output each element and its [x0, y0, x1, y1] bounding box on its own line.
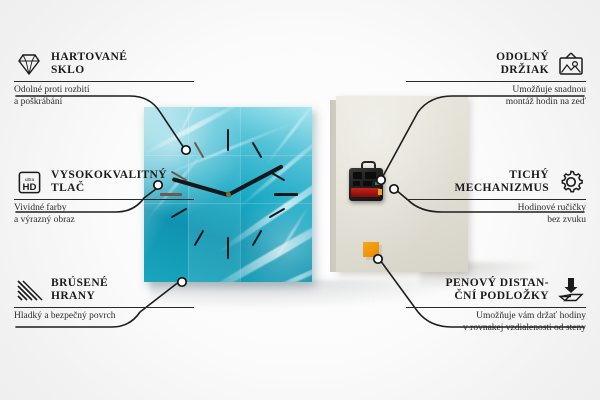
feature-description: Umožňuje snadnou montáž hodin na zeď [406, 85, 586, 108]
clock-center-pin [226, 192, 231, 197]
feature-silent-mechanism: TICHÝ MECHANIZMUS Hodinové ručičky bez z… [406, 168, 586, 226]
feature-durable-holder: ODOLNÝ DRŽIAK Umožňuje snadnou montáž ho… [406, 50, 586, 108]
feature-description: Odolné proti rozbití a poškrábání [14, 85, 194, 108]
diagonal-lines-icon [14, 276, 44, 304]
battery [351, 188, 380, 197]
feature-header: BRÚSENÉ HRANY [14, 276, 194, 304]
svg-text:HD: HD [22, 182, 36, 193]
feature-header: PENOVÝ DISTAN- ČNÍ PODLOŽKY [406, 276, 586, 304]
clock-tick-3 [274, 193, 298, 196]
feature-divider [406, 81, 586, 82]
feature-title: BRÚSENÉ HRANY [51, 277, 108, 303]
feature-polished-edges: BRÚSENÉ HRANY Hladký a bezpečný povrch [14, 276, 194, 323]
clock-mechanism [349, 168, 383, 201]
glass-reflection-line [240, 107, 241, 282]
feature-title: TICHÝ MECHANIZMUS [455, 169, 550, 195]
mechanism-detail [353, 172, 362, 179]
feature-foam-spacers: PENOVÝ DISTAN- ČNÍ PODLOŽKY Umožňuje vám… [406, 276, 586, 334]
feature-high-quality-print: ultra HD VYSOKOKVALITNÝ TLAČ Vividné far… [14, 168, 194, 226]
feature-title: ODOLNÝ DRŽIAK [496, 51, 549, 77]
feature-title: PENOVÝ DISTAN- ČNÍ PODLOŽKY [446, 277, 549, 303]
foam-spacer-pad [363, 242, 379, 257]
ultra-hd-icon: ultra HD [14, 168, 44, 196]
feature-description: Hladký a bezpečný povrch [14, 311, 194, 323]
mechanism-detail [365, 172, 376, 179]
diamond-icon [14, 50, 44, 78]
gear-icon [556, 168, 586, 196]
product-infographic: HARTOVANÉ SKLO Odolné proti rozbití a po… [0, 0, 600, 400]
feature-divider [14, 81, 194, 82]
feature-header: HARTOVANÉ SKLO [14, 50, 194, 78]
mechanism-detail [353, 181, 360, 186]
feature-divider [406, 307, 586, 308]
feature-divider [406, 199, 586, 200]
press-down-pad-icon [556, 276, 586, 304]
mechanism-contact [375, 182, 380, 185]
feature-title: VYSOKOKVALITNÝ TLAČ [51, 169, 167, 195]
feature-title: HARTOVANÉ SKLO [51, 51, 127, 77]
feature-tempered-glass: HARTOVANÉ SKLO Odolné proti rozbití a po… [14, 50, 194, 108]
glass-reflection-line [144, 155, 312, 156]
picture-hanger-icon [556, 50, 586, 78]
clock-tick-12 [227, 129, 229, 151]
feature-header: TICHÝ MECHANIZMUS [406, 168, 586, 196]
feature-header: ODOLNÝ DRŽIAK [406, 50, 586, 78]
clock-art-streak [264, 107, 312, 167]
feature-divider [14, 199, 194, 200]
feature-description: Hodinové ručičky bez zvuku [406, 203, 586, 226]
mechanism-detail [363, 181, 372, 186]
feature-description: Umožňuje vám držať hodiny v rovnakej vzd… [406, 311, 586, 334]
feature-description: Vividné farby a výrazný obraz [14, 203, 194, 226]
feature-divider [14, 307, 194, 308]
feature-header: ultra HD VYSOKOKVALITNÝ TLAČ [14, 168, 194, 196]
clock-tick-6 [227, 237, 229, 259]
